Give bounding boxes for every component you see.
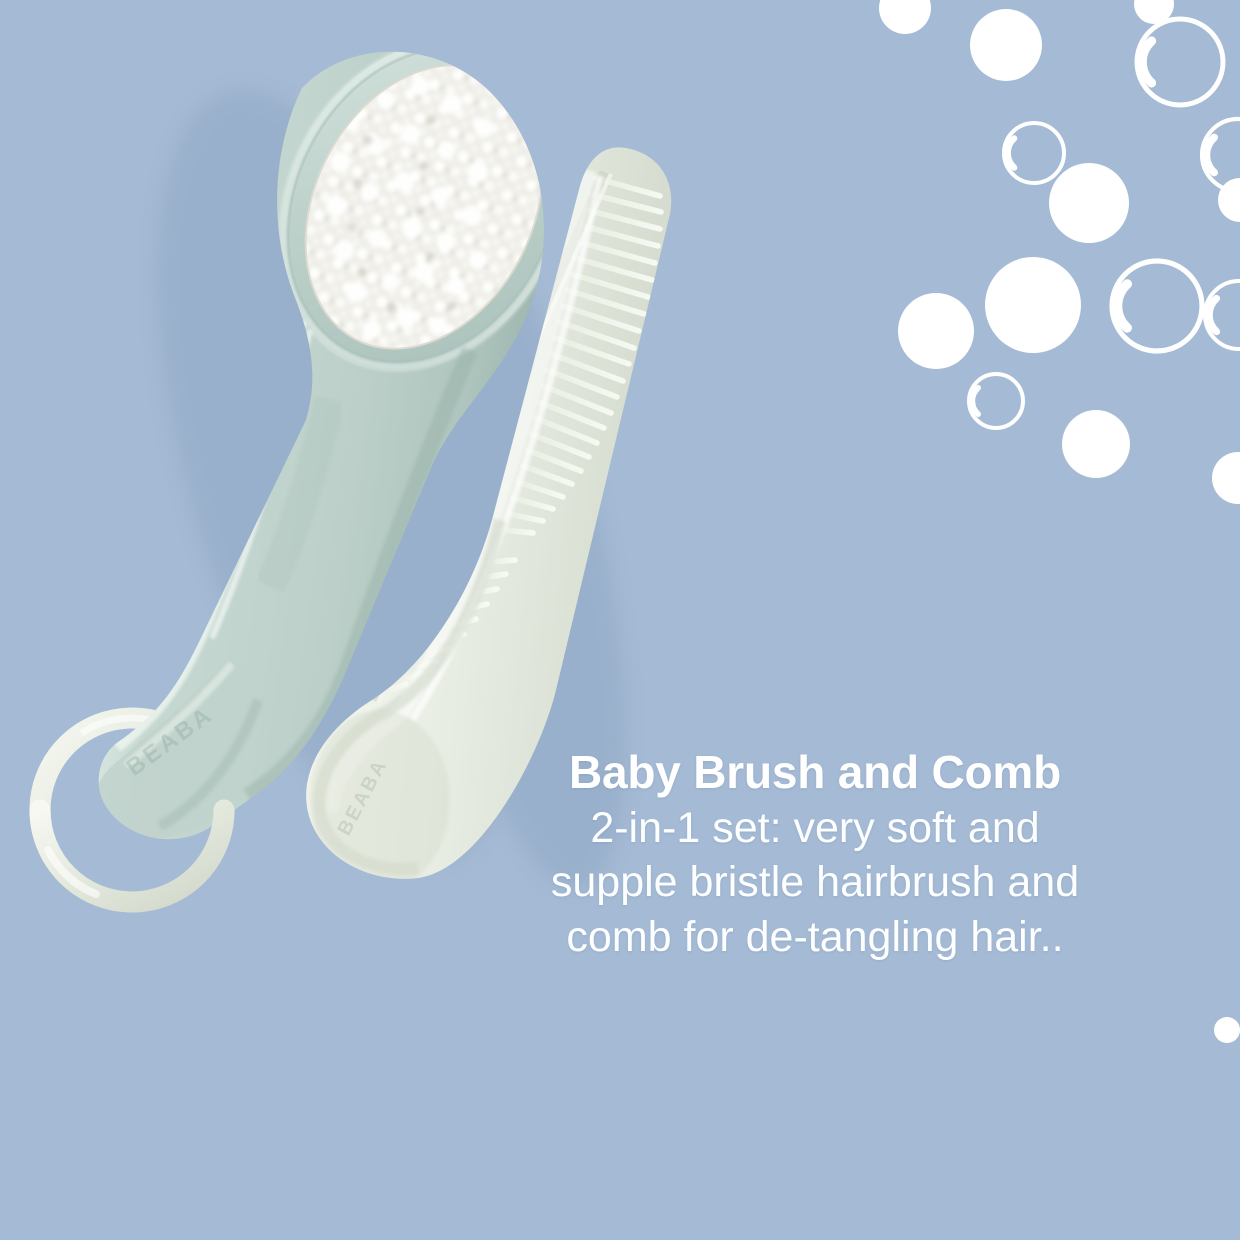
description-line-1: 2-in-1 set: very soft and [400,801,1230,856]
product-text-block: Baby Brush and Comb 2-in-1 set: very sof… [400,748,1230,965]
bubble-solid [879,0,931,34]
description-line-3: comb for de-tangling hair.. [400,910,1230,965]
bubble-solid [1062,410,1130,478]
bubble-decoration [0,0,1240,1240]
bubble-highlight [1206,137,1214,172]
bubble-highlight [1008,138,1014,167]
bubble-outline [969,374,1023,428]
bubble-solid [1212,452,1240,504]
bubble-highlight [1118,284,1128,328]
bubble-solid [1049,163,1129,243]
bubble-solid [898,293,974,369]
bubble-highlight [1142,41,1151,83]
description-line-2: supple bristle hairbrush and [400,855,1230,910]
bubble-outline [1137,19,1223,105]
product-promo-image: BEABA [0,0,1240,1240]
bubble-solid [1214,1017,1240,1043]
bubble-outline [1004,123,1064,183]
bubble-outline [1112,261,1202,351]
bubble-outline [1205,281,1240,349]
bubble-solid [985,257,1081,353]
bubble-solid [970,9,1042,81]
bubble-highlight [972,388,978,414]
bubble-highlight [1209,298,1216,331]
page-title: Baby Brush and Comb [400,748,1230,797]
